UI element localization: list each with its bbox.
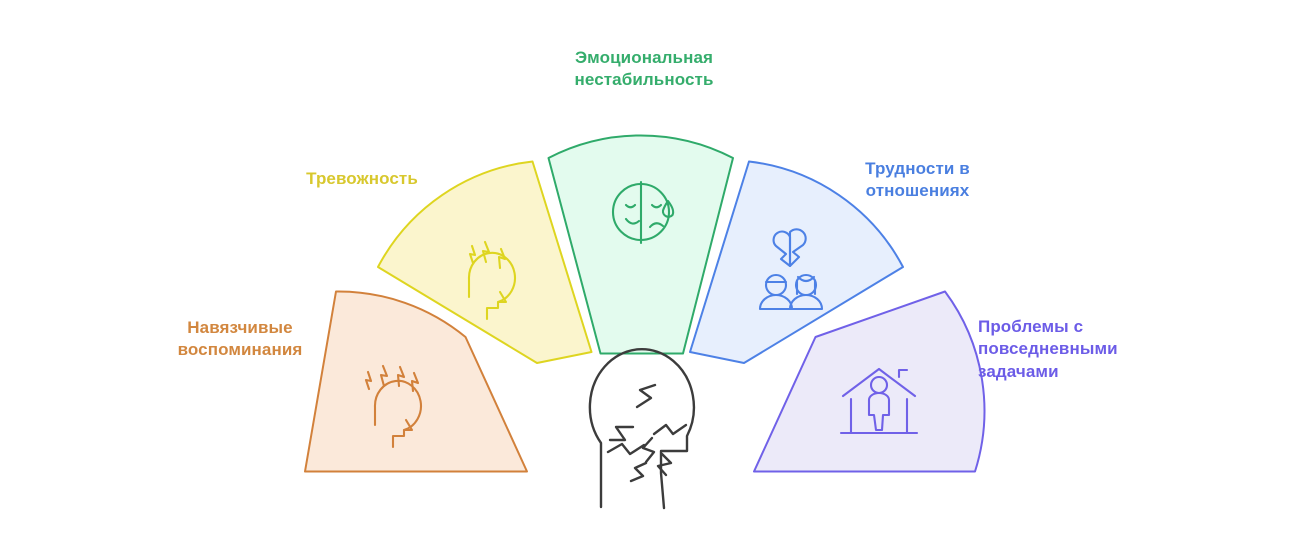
infographic-canvas: Навязчивые воспоминания Тревожность Эмоц… xyxy=(0,0,1300,546)
label-emotional-instability: Эмоциональная нестабильность xyxy=(540,47,748,92)
label-relationship-difficulties: Трудности в отношениях xyxy=(830,158,1005,203)
center-head-with-chaotic-thoughts-icon xyxy=(590,349,694,508)
label-anxiety: Тревожность xyxy=(272,168,452,190)
label-daily-task-problems: Проблемы с повседневными задачами xyxy=(978,316,1174,383)
label-intrusive-memories: Навязчивые воспоминания xyxy=(160,317,320,362)
